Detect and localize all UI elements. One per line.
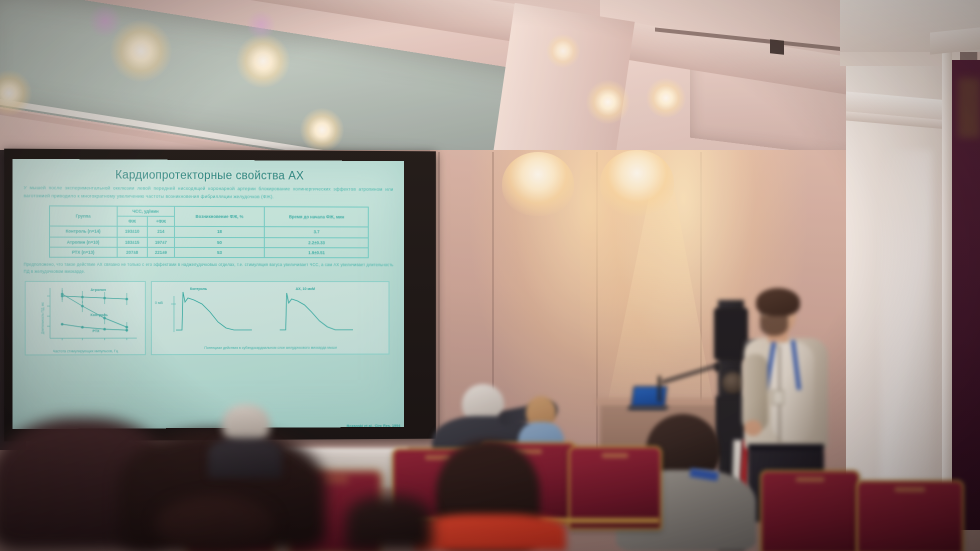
chart-right-axis-label: 0 мВ: [155, 301, 163, 305]
microphone-stand: [658, 376, 661, 402]
chair-back-notch: [894, 487, 925, 492]
cell-vf-pct: 18: [174, 227, 264, 237]
cell-vf-pct: 50: [174, 237, 264, 247]
doorway-frame: [942, 48, 952, 533]
table-header-hr: ЧСС, уд/мин: [117, 206, 175, 216]
table-header-group: Группа: [50, 206, 117, 227]
chair[interactable]: [856, 480, 964, 551]
chart-right-trace-label-ach: АХ, 10 мкМ: [296, 287, 315, 291]
table-header-vf-pct: Возникновение ФЖ, %: [174, 206, 264, 227]
slide-charts-row: Длительность ПД, мс: [21, 281, 397, 356]
slide-chart-apd-vs-frequency: Длительность ПД, мс: [25, 281, 146, 356]
cell-hr-before: 183±15: [117, 237, 148, 247]
cell-group: РТХ (n=13): [50, 247, 117, 257]
slide-title: Кардиопротекторные свойства АХ: [21, 169, 397, 183]
projection-screen[interactable]: Кардиопротекторные свойства АХ У мышей п…: [12, 159, 404, 429]
lens-flare: [246, 10, 276, 40]
chair[interactable]: [760, 470, 860, 551]
chart-left-xlabel: Частота стимулирующих импульсов, Гц: [26, 349, 145, 353]
ceiling-spotlight: [236, 34, 290, 88]
chart-left-series-label-rtx: РТХ: [92, 329, 99, 333]
chair-back-notch: [796, 477, 825, 482]
cell-hr-after: 214: [148, 227, 175, 237]
lens-flare: [88, 4, 122, 38]
table-header-time-to-vf: Время до начала ФЖ, мин: [265, 207, 369, 228]
camera-lens-icon: [722, 372, 744, 394]
ceiling-spotlight: [300, 108, 344, 152]
chart-right-trace-label-control: Контроль: [190, 287, 207, 291]
cell-hr-before: 207±8: [117, 247, 148, 257]
chart-right-svg: [152, 282, 389, 354]
slide-chart-action-potential: Контроль АХ, 10 мкМ 0 мВ Потенциал дейст…: [151, 281, 390, 355]
cell-time-to-vf: 1.9±0.51: [265, 247, 369, 257]
table-header-row: Группа ЧСС, уд/мин Возникновение ФЖ, % В…: [50, 206, 369, 217]
table-row: Контроль (n=14) 193±10 214 18 3.7: [50, 226, 369, 237]
wall-lamp: [502, 152, 574, 216]
audience-body: [208, 438, 282, 478]
audience-head-foreground: [156, 496, 274, 551]
table-row: Атропин (n=10) 183±15 197±7 50 2.2±0.33: [50, 237, 369, 248]
chart-left-series-label-atropine: Атропин: [90, 288, 105, 292]
laptop-base: [628, 406, 668, 410]
cell-hr-before: 193±10: [117, 227, 148, 237]
presenter-hair: [756, 288, 800, 316]
conference-hall-photo: Кардиопротекторные свойства АХ У мышей п…: [0, 0, 980, 551]
cell-hr-after: 197±7: [148, 237, 175, 247]
cell-time-to-vf: 2.2±0.33: [265, 237, 369, 247]
slide-paragraph: У мышей после экспериментальной окклюзии…: [21, 184, 397, 203]
cell-group: Контроль (n=14): [50, 226, 117, 236]
table-subheader-before: ФЖ: [117, 216, 148, 226]
chart-left-ylabel: Длительность ПД, мс: [41, 302, 45, 334]
ceiling-spotlight: [586, 80, 630, 124]
chart-left-series-label-control: Контроль: [90, 313, 107, 317]
cell-group: Атропин (n=10): [50, 237, 117, 247]
slide-note: Предположено, что такое действие АХ связ…: [21, 261, 397, 276]
presenter-hand: [744, 420, 762, 436]
cell-hr-after: 221±9: [148, 247, 175, 257]
pillar-light-sheen: [880, 150, 932, 530]
table-row: РТХ (n=13) 207±8 221±9 53 1.9±0.51: [50, 247, 369, 258]
ceiling-spotlight: [546, 34, 580, 68]
cell-time-to-vf: 3.7: [265, 227, 369, 237]
presenter-beard: [760, 316, 788, 336]
presenter-badge: [772, 390, 784, 405]
wall-lamp: [600, 150, 674, 216]
presenter-belt: [748, 444, 824, 450]
cell-vf-pct: 53: [174, 247, 264, 257]
audience-clothing-foreground: [414, 514, 566, 551]
table-subheader-after: +ФЖ: [148, 216, 175, 226]
ceiling-track-fixture: [770, 39, 784, 54]
wall-panel-seam: [438, 152, 440, 472]
chart-right-caption: Потенциал действия в субэндокардиальном …: [152, 345, 389, 350]
ceiling-spotlight: [646, 78, 686, 118]
doorway-object: [958, 78, 980, 138]
slide-data-table: Группа ЧСС, уд/мин Возникновение ФЖ, % В…: [49, 205, 369, 258]
audience-head-foreground: [346, 496, 432, 551]
chair-back-notch: [602, 453, 629, 458]
